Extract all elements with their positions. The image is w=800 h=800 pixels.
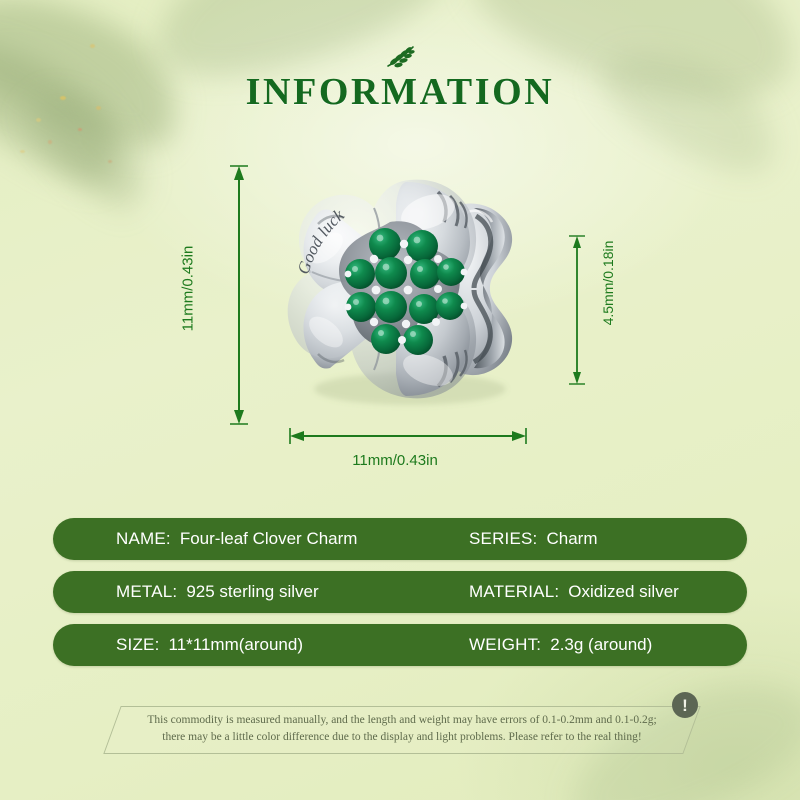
spec-value-material: Oxidized silver xyxy=(568,582,679,602)
disclaimer-text: This commodity is measured manually, and… xyxy=(140,712,664,746)
dimension-height-arrow xyxy=(226,164,252,426)
speck xyxy=(90,44,95,48)
disclaimer-line-2: there may be a little color difference d… xyxy=(140,729,664,746)
dimension-thickness-label: 4.5mm/0.18in xyxy=(600,183,616,383)
disclaimer-line-1: This commodity is measured manually, and… xyxy=(140,712,664,729)
page-title: INFORMATION xyxy=(0,70,800,114)
spec-value-weight: 2.3g (around) xyxy=(550,635,652,655)
spec-value-name: Four-leaf Clover Charm xyxy=(180,529,358,549)
spec-key-metal: METAL: xyxy=(116,582,177,602)
information-page: INFORMATION xyxy=(0,0,800,800)
spec-row-metal: METAL: 925 sterling silver MATERIAL: Oxi… xyxy=(53,571,747,613)
product-dimension-diagram: Good luck xyxy=(200,150,650,480)
spec-value-size: 11*11mm(around) xyxy=(169,635,304,655)
spec-value-metal: 925 sterling silver xyxy=(186,582,318,602)
speck xyxy=(48,140,52,144)
exclamation-icon: ! xyxy=(672,692,698,718)
dimension-thickness-arrow xyxy=(566,234,588,386)
dimension-width-arrow xyxy=(288,425,528,447)
speck xyxy=(108,160,112,163)
spec-field-material: MATERIAL: Oxidized silver xyxy=(469,582,679,602)
leaf-sprig-icon xyxy=(382,44,418,72)
specification-list: NAME: Four-leaf Clover Charm SERIES: Cha… xyxy=(53,518,747,677)
exclamation-glyph: ! xyxy=(682,697,688,714)
spec-field-metal: METAL: 925 sterling silver xyxy=(116,582,319,602)
speck xyxy=(78,128,82,131)
spec-field-weight: WEIGHT: 2.3g (around) xyxy=(469,635,652,655)
dimension-width-label: 11mm/0.43in xyxy=(260,452,530,469)
spec-field-size: SIZE: 11*11mm(around) xyxy=(116,635,303,655)
disclaimer-note: This commodity is measured manually, and… xyxy=(112,706,692,754)
dimension-height-label: 11mm/0.43in xyxy=(180,119,197,459)
spec-key-size: SIZE: xyxy=(116,635,160,655)
spec-key-weight: WEIGHT: xyxy=(469,635,541,655)
spec-row-name: NAME: Four-leaf Clover Charm SERIES: Cha… xyxy=(53,518,747,560)
speck xyxy=(36,118,41,122)
spec-key-series: SERIES: xyxy=(469,529,537,549)
product-image-four-leaf-clover-charm: Good luck xyxy=(278,164,548,419)
spec-key-material: MATERIAL: xyxy=(469,582,559,602)
spec-field-name: NAME: Four-leaf Clover Charm xyxy=(116,529,357,549)
charm-front-face: Good luck xyxy=(288,180,476,399)
spec-row-size: SIZE: 11*11mm(around) WEIGHT: 2.3g (arou… xyxy=(53,624,747,666)
spec-value-series: Charm xyxy=(546,529,597,549)
spec-field-series: SERIES: Charm xyxy=(469,529,598,549)
spec-key-name: NAME: xyxy=(116,529,171,549)
speck xyxy=(20,150,25,153)
